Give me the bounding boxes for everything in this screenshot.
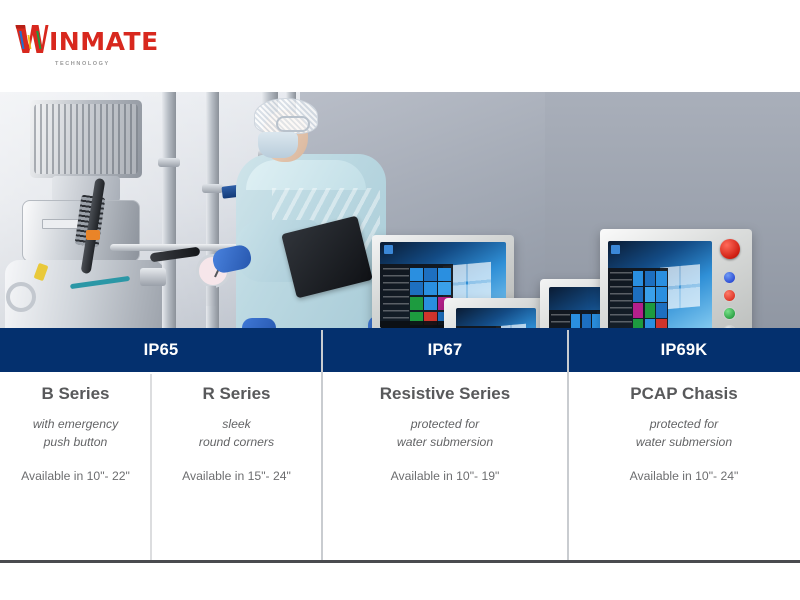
- technician-face-mask: [258, 132, 298, 158]
- column-divider-2: [321, 330, 323, 561]
- windows-start-menu: [380, 264, 453, 328]
- product-availability: Available in 15"- 24": [151, 468, 322, 485]
- indicator-green-button[interactable]: [723, 307, 736, 320]
- pipe-flange-2: [202, 184, 223, 193]
- mixer-motor-fins: [34, 104, 138, 174]
- page-root: INMATE TECHNOLOGY: [0, 0, 800, 600]
- product-subtitle: sleek round corners: [151, 416, 322, 451]
- product-cell-resistive-series: Resistive Series protected for water sub…: [322, 372, 568, 561]
- indicator-blue-button[interactable]: [723, 271, 736, 284]
- ip-header-ip65: IP65: [0, 328, 322, 372]
- winmate-logo[interactable]: INMATE TECHNOLOGY: [14, 21, 159, 55]
- product-subtitle-line1: sleek: [151, 416, 322, 434]
- winmate-tagline: TECHNOLOGY: [55, 61, 110, 67]
- product-cell-b-series: B Series with emergency push button Avai…: [0, 372, 151, 561]
- product-subtitle-line2: round corners: [151, 434, 322, 452]
- vertical-pipe-1: [162, 92, 176, 328]
- product-subtitle-line1: with emergency: [0, 416, 151, 434]
- ip-header-ip67: IP67: [322, 328, 568, 372]
- winmate-wordmark: INMATE: [49, 29, 159, 55]
- product-cell-pcap-chasis: PCAP Chasis protected for water submersi…: [568, 372, 800, 561]
- panel-pc-small-square: [444, 298, 548, 328]
- windows-start-menu: [549, 310, 603, 328]
- product-title: R Series: [151, 384, 322, 404]
- product-title: PCAP Chasis: [568, 384, 800, 404]
- indicator-red-button[interactable]: [723, 289, 736, 302]
- column-divider-3: [567, 330, 569, 561]
- product-cell-r-series: R Series sleek round corners Available i…: [151, 372, 322, 561]
- technician-shoulder: [246, 160, 366, 190]
- orange-marker: [86, 230, 100, 240]
- panel-pc-b-series-emergency: [600, 229, 752, 328]
- pc-screen: [456, 308, 536, 328]
- winmate-w-icon: [14, 23, 50, 55]
- lifting-eye: [6, 282, 36, 312]
- windows-start-menu: [608, 268, 668, 328]
- hero-banner-image: INMATE: [0, 92, 800, 328]
- emergency-stop-button[interactable]: [720, 239, 740, 259]
- product-subtitle-line2: water submersion: [568, 434, 800, 452]
- control-button-strip: [714, 237, 746, 328]
- page-header: INMATE TECHNOLOGY: [0, 0, 800, 92]
- product-availability: Available in 10"- 22": [0, 468, 151, 485]
- product-subtitle-line1: protected for: [322, 416, 568, 434]
- start-menu-app-list: [610, 272, 632, 328]
- desktop-icon: [611, 245, 620, 254]
- start-menu-tiles: [633, 271, 667, 328]
- product-availability: Available in 10"- 24": [568, 468, 800, 485]
- product-subtitle: protected for water submersion: [322, 416, 568, 451]
- product-title: Resistive Series: [322, 384, 568, 404]
- product-cells-row: B Series with emergency push button Avai…: [0, 372, 800, 561]
- product-title: B Series: [0, 384, 151, 404]
- desktop-icon: [384, 245, 393, 254]
- product-subtitle: with emergency push button: [0, 416, 151, 451]
- ip-header-ip69k: IP69K: [568, 328, 800, 372]
- product-subtitle: protected for water submersion: [568, 416, 800, 451]
- start-menu-app-list: [551, 314, 570, 328]
- product-availability: Available in 10"- 19": [322, 468, 568, 485]
- valve-body: [140, 268, 166, 286]
- pc-screen: [608, 241, 712, 328]
- start-menu-app-list: [383, 268, 409, 324]
- technician-safety-glasses: [276, 116, 310, 132]
- start-menu-tiles: [571, 314, 601, 328]
- ip-rating-header-bar: IP65 IP67 IP69K: [0, 328, 800, 372]
- product-subtitle-line1: protected for: [568, 416, 800, 434]
- pipe-flange-1: [158, 158, 180, 167]
- product-subtitle-line2: push button: [0, 434, 151, 452]
- product-subtitle-line2: water submersion: [322, 434, 568, 452]
- column-divider-1: [150, 374, 152, 561]
- gauge-stem: [206, 286, 216, 306]
- technician-glove-lower-left: [242, 318, 276, 328]
- table-bottom-border: [0, 560, 800, 563]
